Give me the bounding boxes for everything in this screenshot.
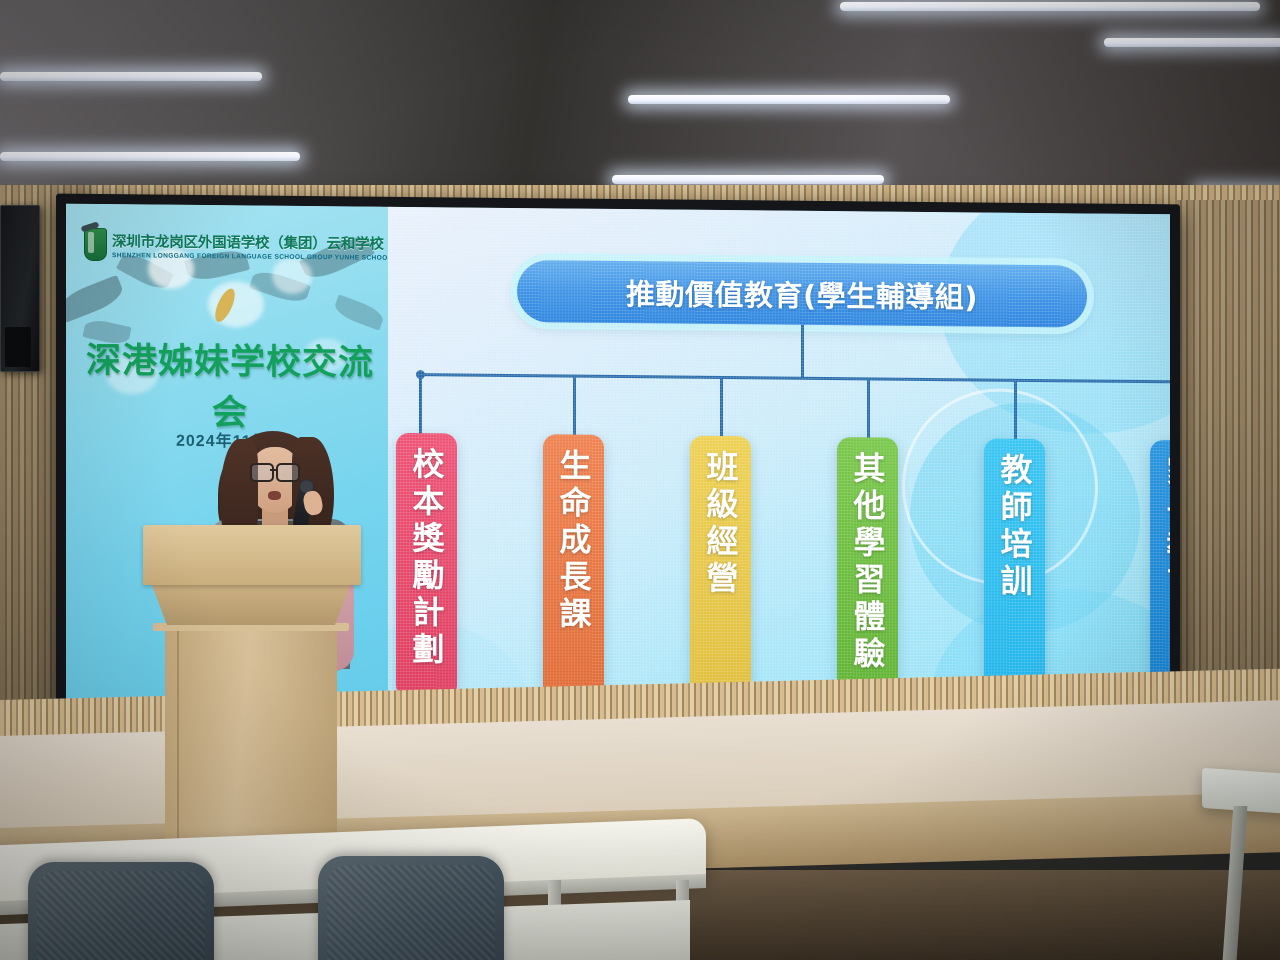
chart-branch-box[interactable]: 班級經營 — [690, 436, 751, 702]
speaker-mouth — [268, 491, 281, 500]
leaf-decoration — [332, 294, 386, 330]
podium-top — [143, 525, 361, 585]
wall-mounted-speaker-device — [0, 205, 40, 372]
chart-branch-label: 生命成長課 — [558, 448, 590, 633]
chart-branch-label: 家長教育 — [1165, 454, 1171, 602]
chart-drop-line — [573, 378, 576, 437]
chart-drop-line — [867, 380, 870, 439]
ceiling-light — [0, 72, 262, 81]
podium — [143, 525, 361, 845]
speaker-glasses-left-lens — [250, 463, 274, 482]
ceiling-light — [612, 175, 884, 184]
chart-branch-label: 校本獎勵計劃 — [411, 447, 443, 669]
chart-branch-label: 教師培訓 — [999, 453, 1031, 601]
chair-back — [28, 862, 214, 960]
ceiling-light — [1104, 38, 1280, 47]
chart-branch-box[interactable]: 家長教育 — [1150, 440, 1170, 706]
school-header: 深圳市龙岗区外国语学校（集团）云和学校 SHENZHEN LONGGANG FO… — [84, 228, 380, 264]
school-shield-logo-icon — [84, 228, 107, 261]
chart-branch-label: 班級經營 — [705, 450, 737, 598]
chart-drop-line — [720, 379, 723, 438]
blossom-decoration — [272, 258, 312, 294]
school-name-cn: 深圳市龙岗区外国语学校（集团）云和学校 — [112, 230, 380, 254]
chart-branch-row: 校本獎勵計劃 生命成長課 班級經營 其他學習體驗 教師培訓 — [388, 433, 1170, 706]
ceiling-slats — [0, 0, 1280, 205]
ceiling-light — [0, 152, 300, 161]
podium-body — [165, 629, 337, 845]
chart-branch-label: 其他學習體驗 — [852, 451, 884, 673]
ceiling-light — [840, 2, 1260, 11]
chart-branch-box[interactable]: 校本獎勵計劃 — [396, 433, 457, 699]
chart-branch-box[interactable]: 教師培訓 — [984, 439, 1045, 705]
leaf-decoration — [66, 275, 126, 323]
chart-branch-box[interactable]: 生命成長課 — [543, 434, 604, 700]
school-name-block: 深圳市龙岗区外国语学校（集团）云和学校 SHENZHEN LONGGANG FO… — [112, 230, 380, 262]
chart-horizontal-bar — [420, 373, 1170, 383]
speaker-glasses-bridge — [270, 469, 276, 471]
ceiling-light — [628, 95, 950, 104]
chair-back — [318, 856, 504, 960]
chart-drop-line — [1014, 382, 1017, 441]
lecture-hall-photo: 深圳市龙岗区外国语学校（集团）云和学校 SHENZHEN LONGGANG FO… — [0, 0, 1280, 960]
chart-stem-line — [801, 325, 804, 379]
chart-branch-box[interactable]: 其他學習體驗 — [837, 437, 898, 703]
speaker-glasses-right-lens — [276, 463, 300, 482]
main-org-chart-slide: 推動價值教育(學生輔導組) 校本獎勵計劃 — [388, 207, 1170, 731]
school-name-en: SHENZHEN LONGGANG FOREIGN LANGUAGE SCHOO… — [112, 252, 380, 262]
chart-drop-line — [419, 376, 422, 435]
event-title: 深港姊妹学校交流会 — [80, 332, 380, 437]
podium-taper — [151, 583, 351, 625]
